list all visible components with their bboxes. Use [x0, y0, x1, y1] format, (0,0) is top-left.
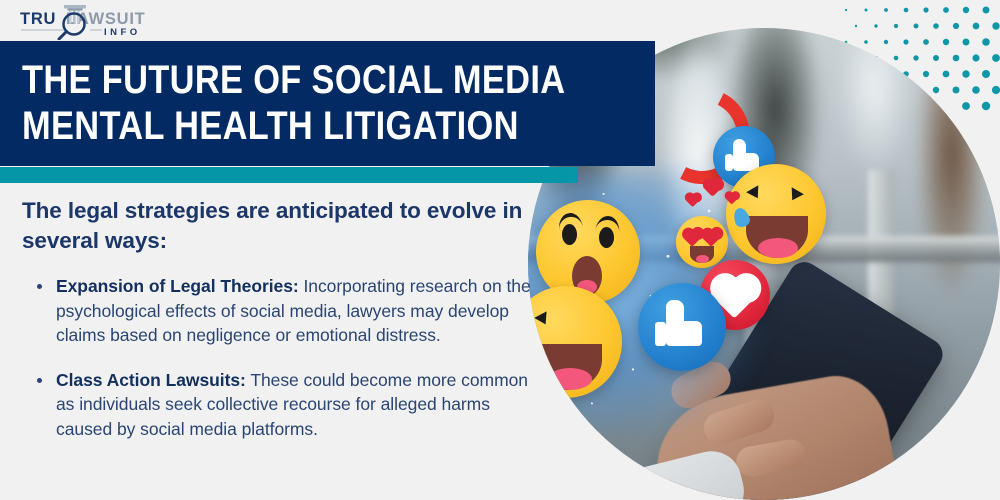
brand-logo[interactable]: TRU LAWSUIT INFO — [16, 4, 164, 40]
page-title-line-1: THE FUTURE OF SOCIAL MEDIA — [22, 57, 548, 103]
logo-text-info: INFO — [104, 27, 141, 38]
bullet-list: Expansion of Legal Theories: Incorporati… — [22, 274, 532, 441]
list-item: Expansion of Legal Theories: Incorporati… — [22, 274, 532, 348]
list-item-lead-in: Class Action Lawsuits: — [56, 370, 246, 390]
logo-text-tru: TRU — [20, 10, 56, 28]
list-item-lead-in: Expansion of Legal Theories: — [56, 276, 299, 296]
page-title: THE FUTURE OF SOCIAL MEDIA MENTAL HEALTH… — [22, 57, 548, 149]
infographic-canvas: THE FUTURE OF SOCIAL MEDIA MENTAL HEALTH… — [0, 0, 1000, 500]
teal-accent-rule — [0, 167, 578, 183]
content-column: The legal strategies are anticipated to … — [22, 196, 532, 461]
list-item: Class Action Lawsuits: These could becom… — [22, 368, 532, 442]
lede-heading: The legal strategies are anticipated to … — [22, 196, 532, 256]
haha-laughing-face-icon — [726, 164, 826, 264]
title-band: THE FUTURE OF SOCIAL MEDIA MENTAL HEALTH… — [0, 41, 655, 166]
like-thumbs-up-icon — [638, 283, 726, 371]
love-heart-eyes-face-icon — [676, 216, 728, 268]
page-title-line-2: MENTAL HEALTH LITIGATION — [22, 103, 548, 149]
